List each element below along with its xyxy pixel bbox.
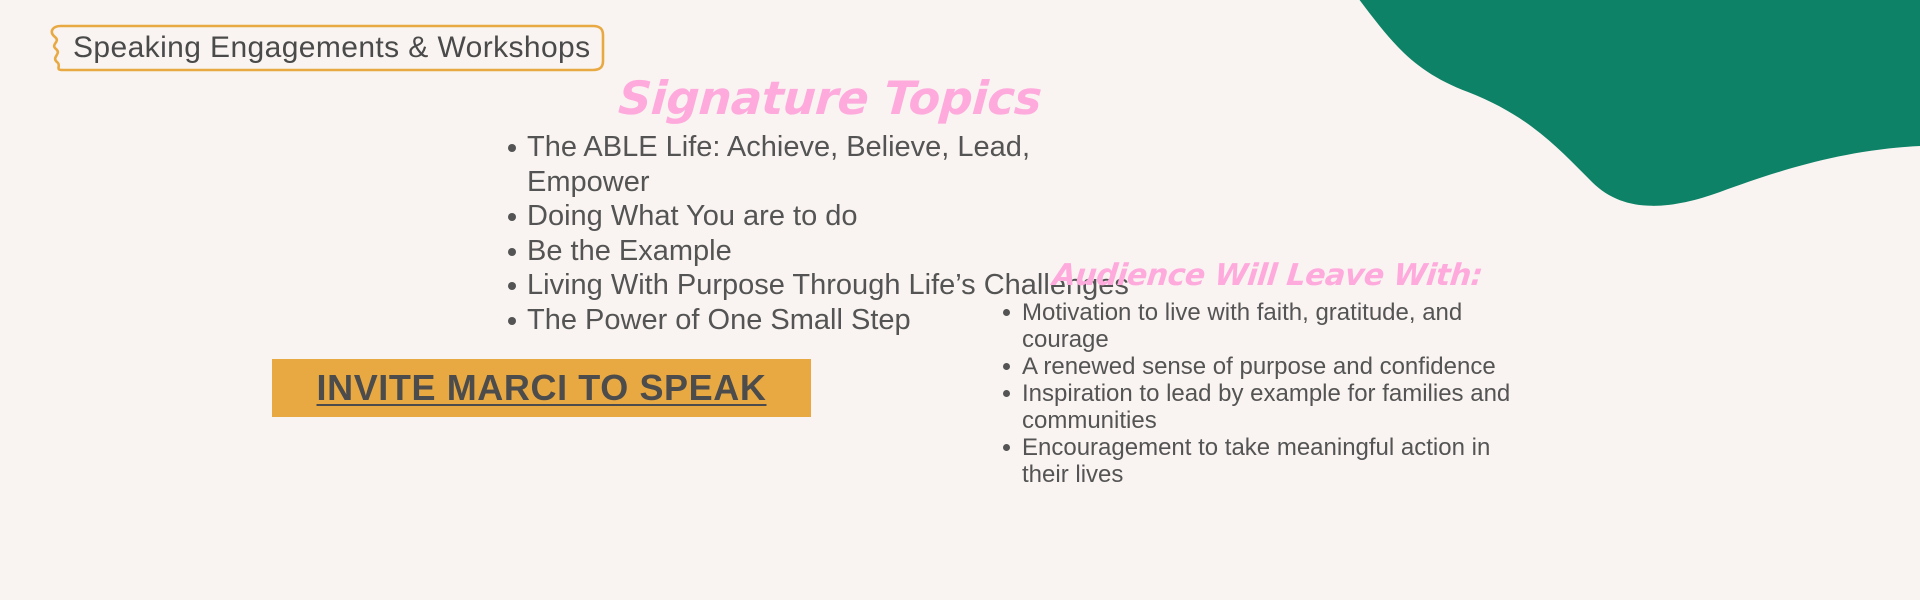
audience-takeaways-section: Audience Will Leave With: Motivation to … [995,258,1540,488]
list-item: Motivation to live with faith, gratitude… [995,299,1540,353]
slide-canvas: Speaking Engagements & Workshops Signatu… [0,0,1920,600]
cta-button-label: INVITE MARCI TO SPEAK [317,367,767,409]
teal-blob-decoration [1200,0,1920,250]
badge-label: Speaking Engagements & Workshops [73,20,591,76]
list-item: A renewed sense of purpose and confidenc… [995,353,1540,380]
list-item: Doing What You are to do [500,199,1160,234]
list-item: Inspiration to lead by example for famil… [995,380,1540,434]
list-item: Encouragement to take meaningful action … [995,434,1540,488]
audience-takeaways-heading: Audience Will Leave With: [993,258,1542,294]
list-item: The ABLE Life: Achieve, Believe, Lead, E… [500,130,1160,199]
badge-speaking-engagements: Speaking Engagements & Workshops [47,20,607,76]
audience-takeaways-list: Motivation to live with faith, gratitude… [995,299,1540,488]
invite-marci-to-speak-button[interactable]: INVITE MARCI TO SPEAK [272,359,811,417]
signature-topics-heading: Signature Topics [498,72,1162,124]
teal-wave-blob-icon [1200,0,1920,250]
